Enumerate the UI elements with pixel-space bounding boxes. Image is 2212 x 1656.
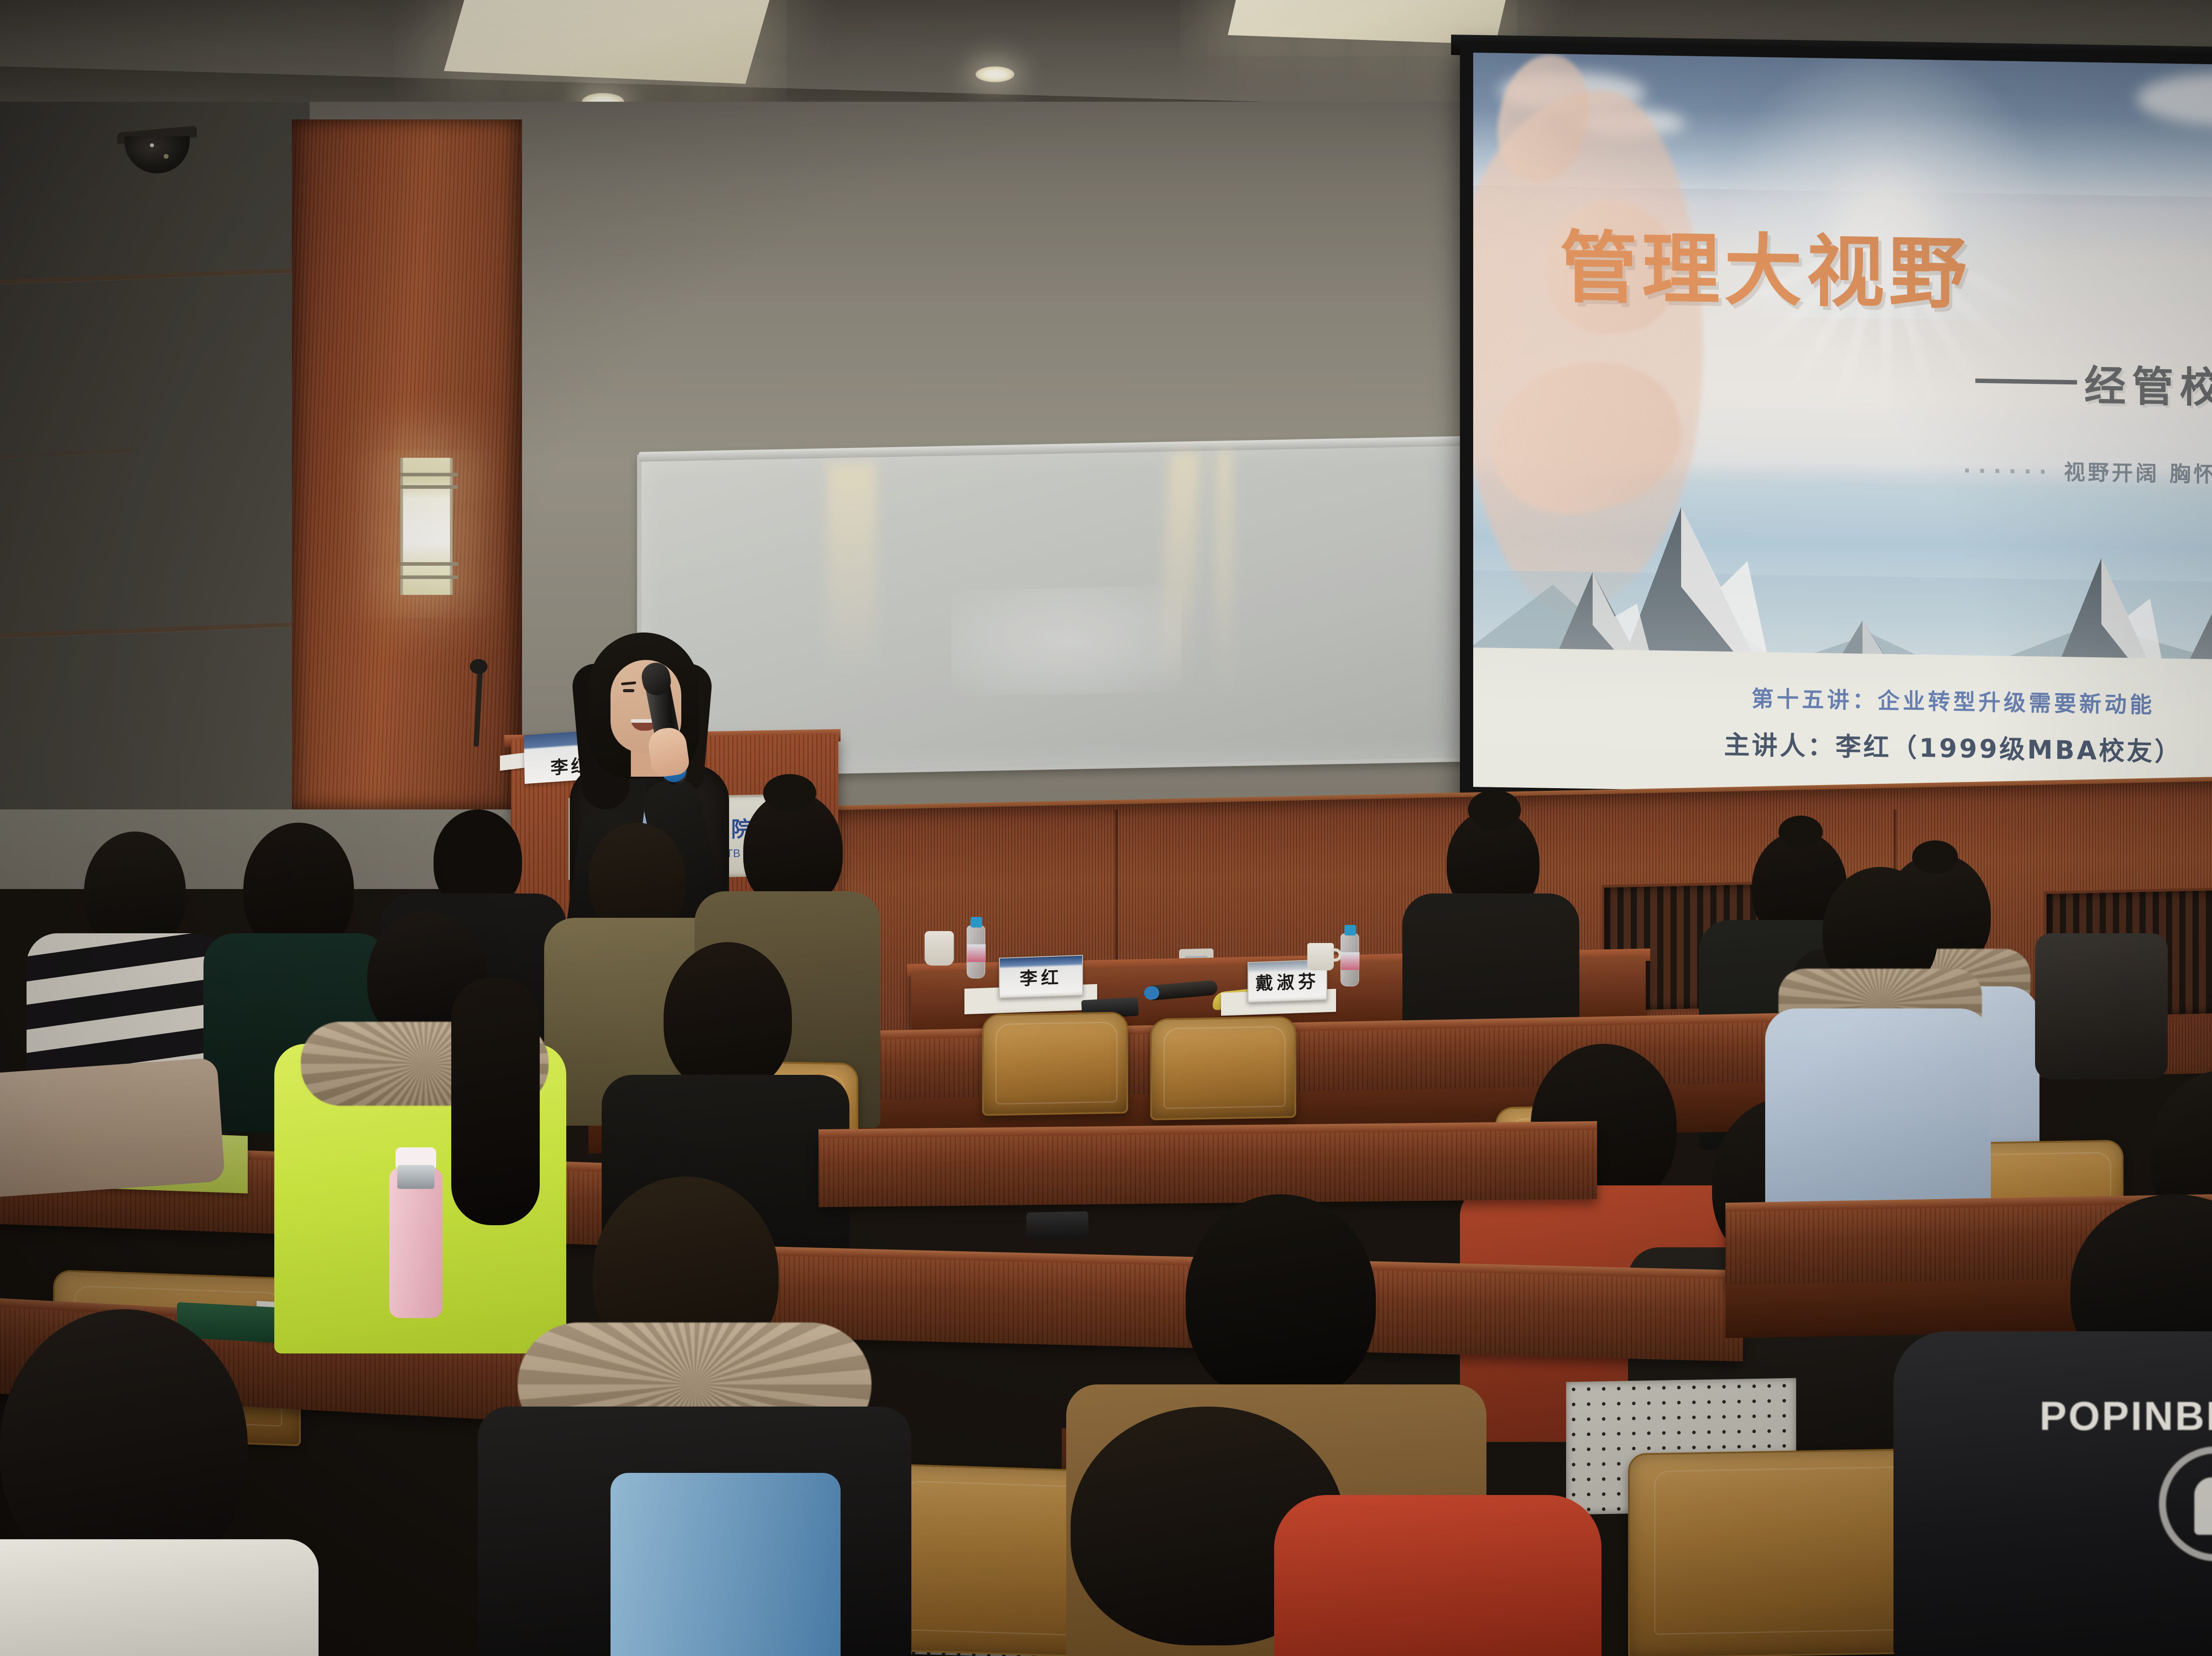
audience-person — [1752, 867, 2000, 1238]
slide-subtitle-text: 经管校友讲坛 — [2084, 352, 2212, 417]
projection-screen: 管理大视野 经管校友讲坛 ······ 视野开阔 胸怀远大 ······ 第十五… — [1460, 41, 2212, 821]
audience-person-foreground — [0, 1309, 301, 1656]
slide-subtitle-row: 经管校友讲坛 — [1975, 350, 2212, 417]
downlight-2 — [975, 66, 1014, 82]
whiteboard — [637, 439, 1464, 778]
whiteboard-glare — [1217, 450, 1232, 698]
red-jacket — [1274, 1495, 1601, 1656]
name-placard: 李红 — [999, 955, 1083, 999]
slide-em-dash — [1975, 378, 2077, 384]
ceiling-light-panel-1 — [444, 0, 772, 84]
whiteboard-haze — [951, 586, 1181, 696]
name-placard-text: 戴淑芬 — [1256, 967, 1319, 995]
audience-chair[interactable] — [1628, 1448, 1938, 1656]
mic-stand-head — [470, 659, 488, 674]
audience-person-foreground — [611, 1473, 841, 1656]
whiteboard-glare — [827, 464, 876, 677]
jacket-text: POPINBINGO — [2039, 1393, 2212, 1436]
water-bottle — [1340, 933, 1359, 986]
slide-title: 管理大视野 — [1559, 204, 1971, 324]
slide-lecture-number: 第十五讲：企业转型升级需要新动能 — [1751, 681, 2155, 719]
white-jacket — [0, 1539, 319, 1656]
slide-tagline-dots-left: ······ — [1963, 458, 2054, 484]
slide-footer: 第十五讲：企业转型升级需要新动能 主讲人：李红（1999级MBA校友） — [1473, 648, 2212, 802]
head — [1186, 1194, 1376, 1402]
slide-tagline-text: 视野开阔 胸怀远大 — [2064, 460, 2212, 488]
backpack — [2035, 933, 2168, 1079]
presentation-slide: 管理大视野 经管校友讲坛 ······ 视野开阔 胸怀远大 ······ 第十五… — [1473, 53, 2212, 802]
wall-sconce-light — [400, 458, 453, 595]
audience-person-foreground — [2194, 1433, 2212, 1656]
teapot — [925, 931, 954, 966]
water-bottle — [611, 1473, 841, 1656]
security-camera-icon — [117, 129, 197, 178]
audience-chair[interactable] — [982, 1012, 1128, 1116]
slide-speaker-line: 主讲人：李红（1999级MBA校友） — [1724, 724, 2182, 768]
head — [664, 942, 792, 1092]
water-bottle — [967, 925, 985, 978]
pink-thermos — [389, 1168, 442, 1318]
lecture-hall-scene: EPS — [0, 0, 2212, 1656]
mug — [1307, 943, 1334, 970]
audience-chair[interactable] — [1150, 1016, 1296, 1120]
audience-person-popinbingo: POPINBINGO — [1893, 1247, 2212, 1656]
audience-person-foreground — [1274, 1495, 1610, 1656]
draped-coat — [0, 1058, 225, 1198]
name-placard-text: 李红 — [1020, 963, 1062, 990]
